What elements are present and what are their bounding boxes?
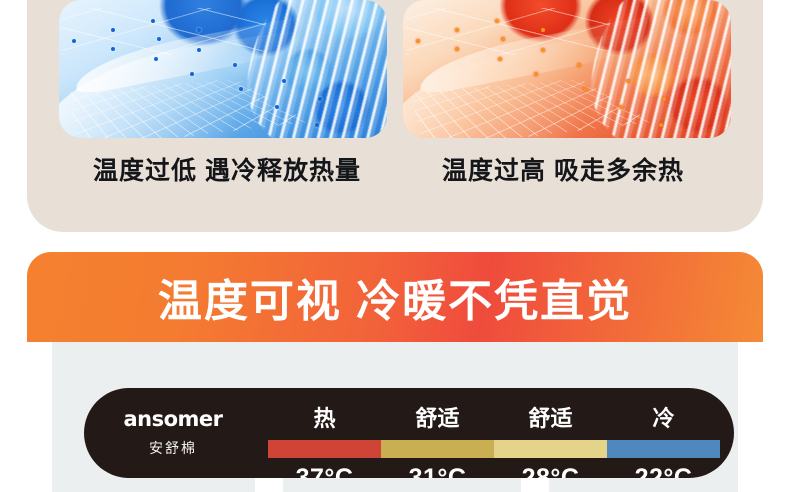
temperature-section: ansomer 安舒棉 热 舒适 舒适 冷 37°C 31°C 28°C 22°…: [27, 342, 763, 492]
temperature-value: 28°C: [494, 464, 607, 478]
comfort-label: 热: [268, 401, 381, 433]
molecule-dots: [59, 0, 387, 138]
temperature-segment: [607, 440, 720, 458]
temperature-gradient-bar: [268, 440, 720, 458]
temperature-value: 37°C: [268, 464, 381, 478]
hot-panel-caption: 温度过高 吸走多余热: [395, 151, 731, 187]
molecule-dots: [403, 0, 731, 138]
comfort-label: 舒适: [381, 401, 494, 433]
temperature-segment: [494, 440, 607, 458]
banner-headline: 温度可视 冷暖不凭直觉: [158, 265, 632, 329]
brand-logo-chinese: 安舒棉: [114, 438, 232, 458]
temperature-value: 22°C: [607, 464, 720, 478]
cold-panel-image: [59, 0, 387, 138]
comfort-label: 舒适: [494, 401, 607, 433]
feature-captions: 温度过低 遇冷释放热量 温度过高 吸走多余热: [59, 146, 731, 192]
background-column: [738, 342, 763, 492]
background-column: [27, 342, 52, 492]
brand-logo: ansomer 安舒棉: [114, 408, 232, 458]
temperature-segment: [268, 440, 381, 458]
temperature-value: 31°C: [381, 464, 494, 478]
headline-banner: 温度可视 冷暖不凭直觉: [27, 252, 763, 342]
feature-panels: [59, 0, 731, 138]
feature-card: 温度过低 遇冷释放热量 温度过高 吸走多余热: [27, 0, 763, 232]
comfort-labels: 热 舒适 舒适 冷: [268, 401, 720, 433]
comfort-label: 冷: [607, 401, 720, 433]
cold-panel-caption: 温度过低 遇冷释放热量: [59, 151, 395, 187]
temperature-scale-pill: ansomer 安舒棉 热 舒适 舒适 冷 37°C 31°C 28°C 22°…: [84, 388, 734, 478]
temperature-values: 37°C 31°C 28°C 22°C: [268, 464, 720, 478]
hot-panel-image: [403, 0, 731, 138]
brand-logo-mark: ansomer: [114, 408, 232, 431]
temperature-scale: 热 舒适 舒适 冷 37°C 31°C 28°C 22°C: [244, 392, 720, 474]
temperature-segment: [381, 440, 494, 458]
